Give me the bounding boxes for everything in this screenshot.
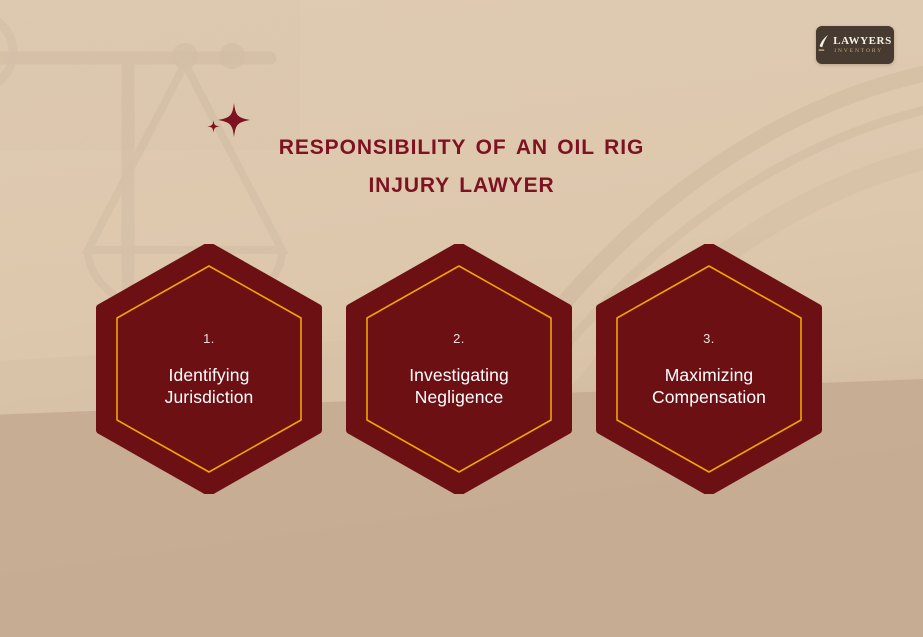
step-label-2: Investigating Negligence — [409, 364, 509, 408]
sparkle-decoration-group — [206, 99, 262, 149]
step-hexagon-2[interactable]: 2. Investigating Negligence — [346, 244, 572, 494]
step-hexagon-3[interactable]: 3. Maximizing Compensation — [596, 244, 822, 494]
infographic-canvas: LAWYERS INVENTORY Responsibility Of An O… — [0, 0, 923, 637]
step-content-3: 3. Maximizing Compensation — [596, 244, 822, 494]
step-number-1: 1. — [203, 331, 215, 346]
step-label-1: Identifying Jurisdiction — [165, 364, 254, 408]
step-number-3: 3. — [703, 331, 715, 346]
logo-secondary-text: INVENTORY — [833, 49, 892, 55]
step-hexagon-1[interactable]: 1. Identifying Jurisdiction — [96, 244, 322, 494]
step-number-2: 2. — [453, 331, 465, 346]
sparkle-small-icon — [207, 120, 220, 133]
step-content-2: 2. Investigating Negligence — [346, 244, 572, 494]
logo-primary-text: LAWYERS — [833, 36, 892, 47]
quill-icon — [818, 34, 829, 56]
step-label-3: Maximizing Compensation — [652, 364, 766, 408]
step-content-1: 1. Identifying Jurisdiction — [96, 244, 322, 494]
sparkle-icon — [218, 103, 250, 137]
brand-logo[interactable]: LAWYERS INVENTORY — [816, 26, 894, 64]
steps-row: 1. Identifying Jurisdiction 2. Investiga… — [0, 244, 923, 496]
